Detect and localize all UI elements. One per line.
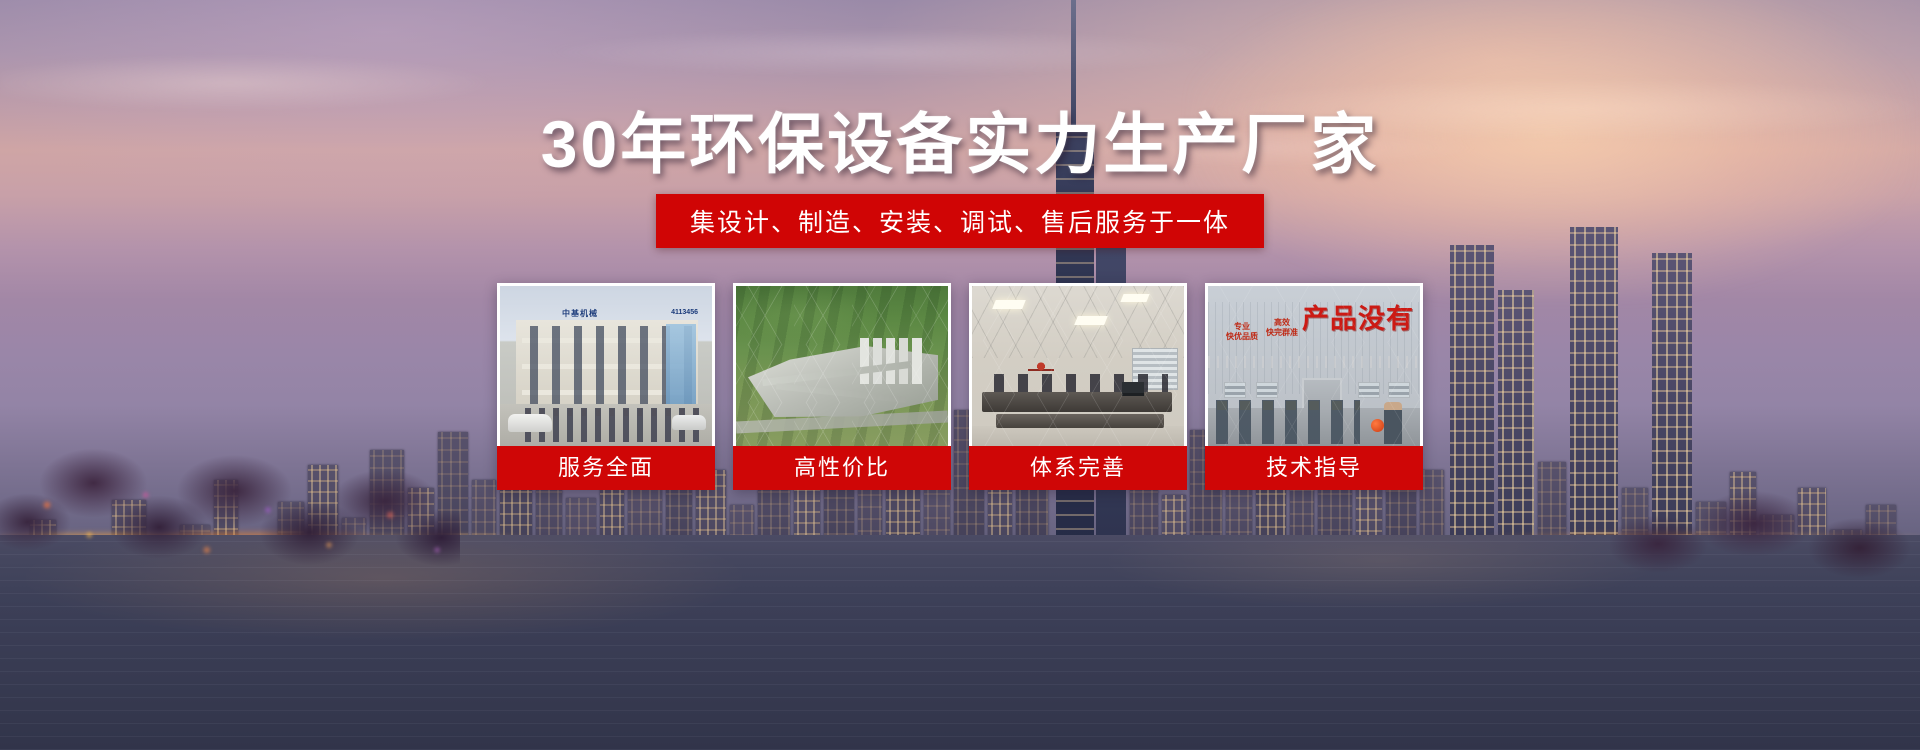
card-label: 体系完善 [969, 446, 1187, 490]
building-phone-text: 4113456 [671, 309, 698, 316]
feature-card-row: 中基机械 4113456 服务全面 高性价比 [497, 283, 1423, 490]
building-sign-text: 中基机械 [562, 308, 598, 319]
hero-banner: 30年环保设备实力生产厂家 集设计、制造、安装、调试、售后服务于一体 中基机械 … [0, 0, 1920, 750]
aerial-factory-plant-photo [736, 286, 948, 446]
card-label: 服务全面 [497, 446, 715, 490]
page-title: 30年环保设备实力生产厂家 [0, 108, 1920, 181]
feature-card[interactable]: 产品没有 专业快优品质 高效快完群准 技术指导 [1205, 283, 1423, 490]
feature-card[interactable]: 中基机械 4113456 服务全面 [497, 283, 715, 490]
card-label: 技术指导 [1205, 446, 1423, 490]
card-label: 高性价比 [733, 446, 951, 490]
foreground-trees-right [1610, 400, 1920, 600]
foreground-tree-lights [0, 350, 470, 600]
subtitle-banner: 集设计、制造、安装、调试、售后服务于一体 [656, 194, 1264, 248]
office-interior-meeting-photo [972, 286, 1184, 446]
feature-card[interactable]: 高性价比 [733, 283, 951, 490]
feature-card[interactable]: 体系完善 [969, 283, 1187, 490]
factory-workers-photo: 产品没有 专业快优品质 高效快完群准 [1208, 286, 1420, 446]
company-office-building-photo: 中基机械 4113456 [500, 286, 712, 446]
